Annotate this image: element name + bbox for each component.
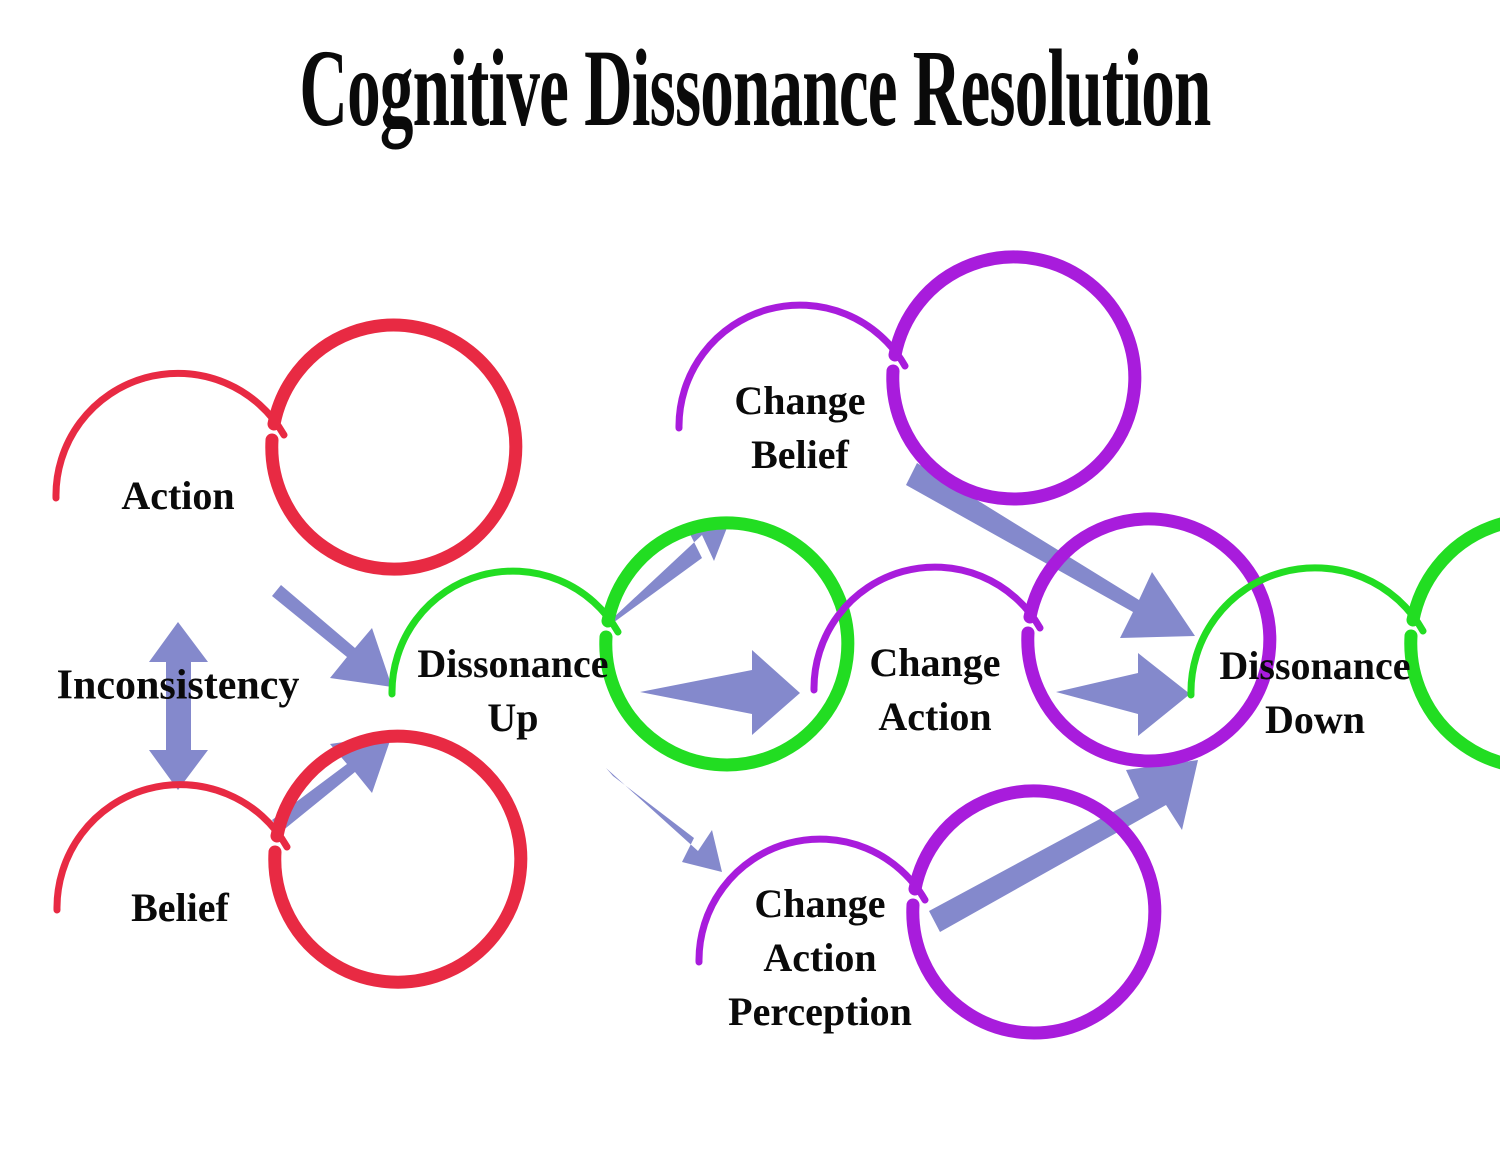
node-action-ring (272, 325, 516, 569)
edge-label-inconsistency: Inconsistency (57, 663, 300, 709)
node-belief-ring (275, 736, 521, 982)
diagram-canvas: Cognitive Dissonance Resolution (0, 0, 1500, 1155)
node-dissonance-up-label-line1: Dissonance (417, 641, 608, 686)
node-change-action-label-line1: Change (869, 640, 1000, 685)
arrow-change-action-to-dissonance-down (1056, 653, 1190, 736)
node-change-action-label-line2: Action (878, 694, 991, 739)
node-belief[interactable]: Belief (57, 736, 521, 982)
node-dissonance-down-ring (1411, 519, 1500, 767)
arrow-dissonance-up-to-change-action-perception (606, 768, 722, 872)
node-dissonance-up-label-line2: Up (487, 695, 538, 740)
page-title: Cognitive Dissonance Resolution (299, 27, 1210, 149)
node-dissonance-down-label-line2: Down (1265, 697, 1365, 742)
arrow-inconsistency-down (149, 710, 208, 790)
node-change-action-perception-label-line3: Perception (728, 989, 912, 1034)
node-action-label: Action (121, 473, 234, 518)
node-change-action-perception-label-line1: Change (754, 881, 885, 926)
node-change-belief-ring (893, 257, 1135, 499)
arrow-dissonance-up-to-change-action (640, 650, 800, 735)
node-change-belief-label-line1: Change (734, 378, 865, 423)
node-change-belief-label-line2: Belief (751, 432, 849, 477)
node-dissonance-up[interactable]: Dissonance Up (392, 523, 848, 765)
node-change-action-perception-label-line2: Action (763, 935, 876, 980)
node-action[interactable]: Action (56, 325, 516, 569)
cognitive-dissonance-diagram: Cognitive Dissonance Resolution (0, 0, 1500, 1155)
node-dissonance-up-ring (606, 523, 848, 765)
node-dissonance-down-label-line1: Dissonance (1219, 643, 1410, 688)
node-change-belief[interactable]: Change Belief (679, 257, 1135, 499)
node-belief-label: Belief (131, 885, 229, 930)
